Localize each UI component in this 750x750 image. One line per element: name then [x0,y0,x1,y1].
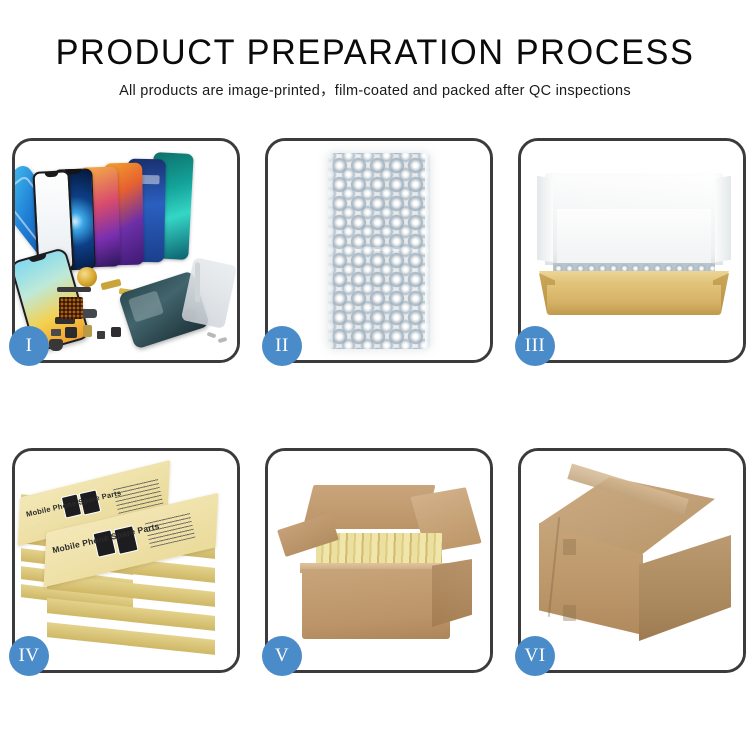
flex-cable-part [57,287,91,292]
carton-right-face [432,559,472,627]
open-carton-graphic [282,485,478,645]
carton-front-face [302,569,450,639]
tiny-part-2 [65,327,77,338]
repair-tool-graphic [181,257,237,329]
step-image-retail-boxes-stacked: Mobile Phone Spare Parts Mobile Phone Sp… [15,451,237,670]
inner-box-tray [539,259,729,317]
step-image-bubble-wrap [268,141,490,360]
product-preparation-infographic: PRODUCT PREPARATION PROCESS All products… [0,0,750,750]
step-panel-retail-boxes-stacked: Mobile Phone Spare Parts Mobile Phone Sp… [12,448,240,673]
page-subtitle: All products are image-printed，film-coat… [0,81,750,101]
open-inner-box-graphic [539,173,729,323]
header: PRODUCT PREPARATION PROCESS All products… [0,32,750,101]
step-image-carton-filling [268,451,490,670]
steps-grid: I II [12,138,740,673]
step-panel-sealed-carton: VI [518,448,746,673]
step-panel-products-and-parts: I [12,138,240,363]
sealed-carton-right-face [639,535,731,641]
step-badge-2: II [262,326,302,366]
step-badge-5: V [262,636,302,676]
step-panel-bubble-wrap: II [265,138,493,363]
page-title: PRODUCT PREPARATION PROCESS [8,32,743,74]
step-image-inner-box-packing [521,141,743,360]
connector-grid-part [59,297,83,319]
inner-box-tray-front [547,285,721,315]
bubble-wrap-edges [328,153,430,349]
step-image-sealed-carton [521,451,743,670]
tiny-part-6 [49,339,63,351]
sealed-carton-graphic [539,477,731,649]
bubble-wrap-edge-left [328,153,333,349]
tiny-part-4 [97,331,105,339]
step-panel-carton-filling: V [265,448,493,673]
step-badge-1: I [9,326,49,366]
retail-box-stack-graphic: Mobile Phone Spare Parts Mobile Phone Sp… [19,473,235,663]
step-panel-inner-box-packing: III [518,138,746,363]
vibration-motor-part [77,267,97,287]
step-badge-6: VI [515,636,555,676]
bubble-wrap-edge-right [425,153,430,349]
step-image-products-and-parts [15,141,237,360]
step-badge-3: III [515,326,555,366]
step-badge-4: IV [9,636,49,676]
screws-graphic [207,331,231,345]
tiny-part-5 [111,327,121,337]
sealed-carton-tab-top [563,539,576,555]
sealed-carton-tab-bottom [563,605,576,621]
tiny-part-1 [51,329,61,336]
tiny-part-3 [83,325,92,337]
